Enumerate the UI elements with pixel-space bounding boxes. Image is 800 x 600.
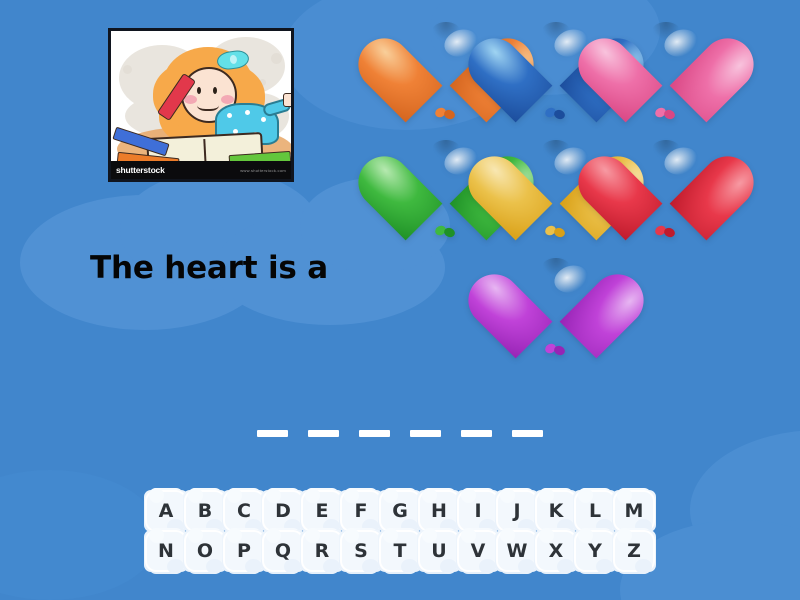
heart-lobe [348, 146, 443, 241]
letter-key-label: I [474, 502, 481, 521]
heart-icon [618, 22, 714, 110]
letter-key-label: B [198, 502, 212, 521]
letter-key-label: V [471, 542, 486, 561]
letter-key-label: E [316, 502, 329, 521]
girl-eye [197, 87, 201, 94]
letter-key-label: K [549, 502, 564, 521]
heart-lobe [348, 28, 443, 123]
letter-key-label: M [625, 502, 644, 521]
letter-key-y[interactable]: Y [576, 532, 614, 570]
balloon-knot-icon [548, 342, 563, 359]
letter-key-q[interactable]: Q [264, 532, 302, 570]
heart-notch-shading [542, 258, 570, 276]
letter-key-i[interactable]: I [459, 492, 497, 530]
keyboard-row-2: NOPQRSTUVWXYZ [147, 532, 653, 570]
stock-watermark-bar: shutterstock www.shutterstock.com [111, 161, 291, 179]
answer-blank [257, 430, 288, 437]
heart-notch-shading [432, 140, 460, 158]
heart-notch-shading [652, 22, 680, 40]
heart-balloon-pink [618, 22, 722, 134]
girl-smile [197, 97, 219, 111]
letter-key-x[interactable]: X [537, 532, 575, 570]
letter-key-b[interactable]: B [186, 492, 224, 530]
letter-key-h[interactable]: H [420, 492, 458, 530]
shirt-dot [245, 110, 250, 115]
heart-notch-shading [542, 22, 570, 40]
letter-key-g[interactable]: G [381, 492, 419, 530]
letter-key-label: A [159, 502, 174, 521]
letter-key-label: O [197, 542, 213, 561]
letter-key-label: Q [275, 542, 291, 561]
letter-key-label: Y [588, 542, 602, 561]
heart-notch-shading [432, 22, 460, 40]
letter-key-label: R [315, 542, 330, 561]
letter-key-v[interactable]: V [459, 532, 497, 570]
letter-key-s[interactable]: S [342, 532, 380, 570]
letter-key-label: F [355, 502, 368, 521]
heart-lobe [458, 264, 553, 359]
letter-key-label: U [431, 542, 446, 561]
knot-part [443, 226, 457, 238]
heart-notch-shading [652, 140, 680, 158]
answer-blank [512, 430, 543, 437]
keyboard-row-1: ABCDEFGHIJKLM [147, 492, 653, 530]
illustration-dot [259, 79, 266, 86]
letter-key-t[interactable]: T [381, 532, 419, 570]
letter-key-label: H [431, 502, 447, 521]
letter-key-p[interactable]: P [225, 532, 263, 570]
girl-hand [283, 93, 294, 107]
heart-lobe [670, 146, 765, 241]
letter-key-m[interactable]: M [615, 492, 653, 530]
answer-blanks [0, 430, 800, 437]
letter-key-e[interactable]: E [303, 492, 341, 530]
letter-key-c[interactable]: C [225, 492, 263, 530]
letter-key-label: P [237, 542, 251, 561]
heart-balloon-purple [508, 258, 612, 370]
heart-lobe [560, 264, 655, 359]
balloon-knot-icon [438, 224, 453, 241]
letter-key-z[interactable]: Z [615, 532, 653, 570]
letter-key-label: X [549, 542, 564, 561]
shirt-dot [261, 117, 266, 122]
alphabet-keyboard[interactable]: ABCDEFGHIJKLMNOPQRSTUVWXYZ [0, 492, 800, 570]
answer-blank [359, 430, 390, 437]
knot-part [553, 226, 567, 238]
letter-key-n[interactable]: N [147, 532, 185, 570]
answer-blank [461, 430, 492, 437]
lives-hearts-group [398, 22, 748, 372]
balloon-knot-icon [658, 224, 673, 241]
letter-key-a[interactable]: A [147, 492, 185, 530]
knot-part [553, 108, 567, 120]
letter-key-label: W [507, 542, 528, 561]
heart-icon [618, 140, 714, 228]
question-illustration: shutterstock www.shutterstock.com [108, 28, 294, 182]
girl-cheek [221, 95, 234, 104]
illustration-dot [271, 53, 282, 64]
page-title: The heart is a [90, 250, 328, 286]
balloon-knot-icon [548, 224, 563, 241]
letter-key-label: N [158, 542, 174, 561]
letter-key-f[interactable]: F [342, 492, 380, 530]
letter-key-w[interactable]: W [498, 532, 536, 570]
balloon-knot-icon [548, 106, 563, 123]
watermark-sub-label: www.shutterstock.com [240, 168, 286, 173]
illustration-dot [123, 65, 132, 74]
letter-key-label: T [394, 542, 407, 561]
heart-notch-shading [542, 140, 570, 158]
letter-key-label: L [589, 502, 601, 521]
knot-part [443, 108, 457, 120]
letter-key-k[interactable]: K [537, 492, 575, 530]
illustration-canvas [111, 31, 291, 179]
letter-key-label: C [237, 502, 251, 521]
shirt-dot [227, 113, 232, 118]
knot-part [553, 344, 567, 356]
heart-icon [508, 258, 604, 346]
heart-lobe [670, 28, 765, 123]
game-stage: shutterstock www.shutterstock.com The he… [0, 0, 800, 600]
letter-key-label: G [392, 502, 408, 521]
heart-highlight [551, 261, 592, 297]
letter-key-label: Z [627, 542, 641, 561]
knot-part [663, 226, 677, 238]
letter-key-label: J [513, 502, 520, 521]
letter-key-r[interactable]: R [303, 532, 341, 570]
answer-blank [410, 430, 441, 437]
watermark-label: shutterstock [116, 165, 165, 175]
letter-key-l[interactable]: L [576, 492, 614, 530]
letter-key-u[interactable]: U [420, 532, 458, 570]
heart-highlight [661, 143, 702, 179]
balloon-knot-icon [658, 106, 673, 123]
knot-part [663, 108, 677, 120]
heart-balloon-red [618, 140, 722, 252]
girl-eye [213, 87, 217, 94]
letter-key-j[interactable]: J [498, 492, 536, 530]
balloon-knot-icon [438, 106, 453, 123]
letter-key-d[interactable]: D [264, 492, 302, 530]
answer-blank [308, 430, 339, 437]
letter-key-label: D [275, 502, 291, 521]
heart-highlight [661, 25, 702, 61]
letter-key-o[interactable]: O [186, 532, 224, 570]
letter-key-label: S [354, 542, 368, 561]
